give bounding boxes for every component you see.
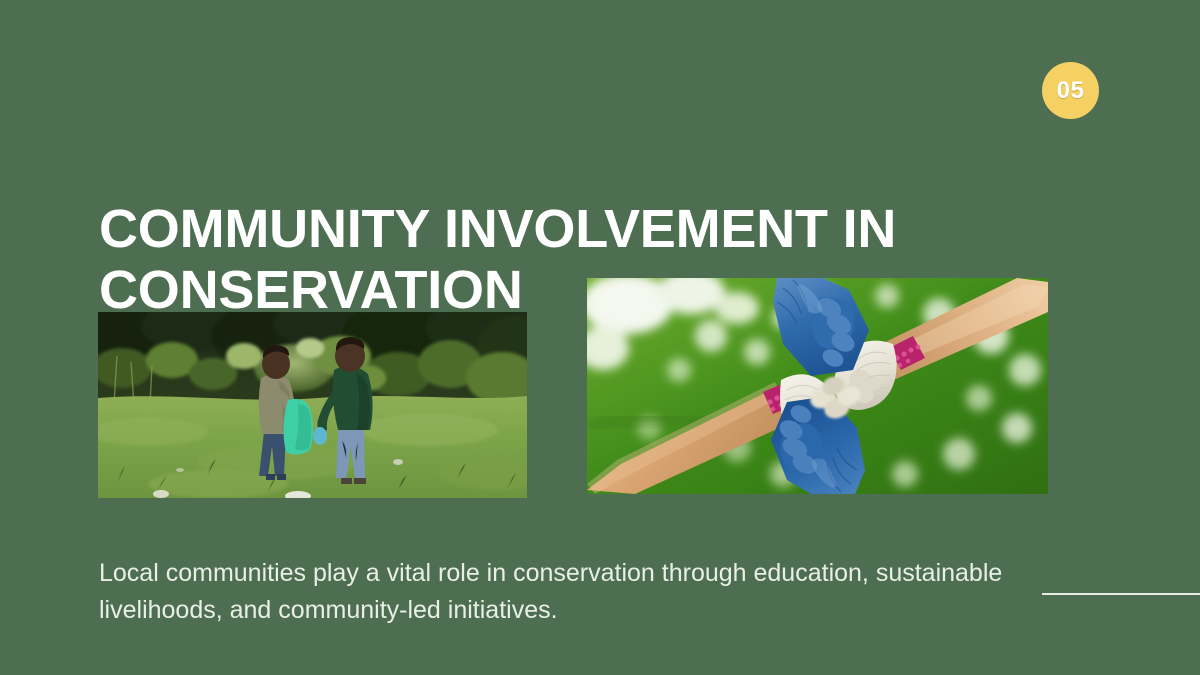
photo-volunteers xyxy=(98,312,527,498)
page-number-badge: 05 xyxy=(1042,62,1099,119)
slide-body-text: Local communities play a vital role in c… xyxy=(99,555,1074,629)
photo-hands xyxy=(587,278,1048,494)
accent-rule xyxy=(1042,593,1200,595)
slide-canvas: 05 COMMUNITY INVOLVEMENT IN CONSERVATION xyxy=(0,0,1200,675)
page-number-label: 05 xyxy=(1057,79,1085,103)
